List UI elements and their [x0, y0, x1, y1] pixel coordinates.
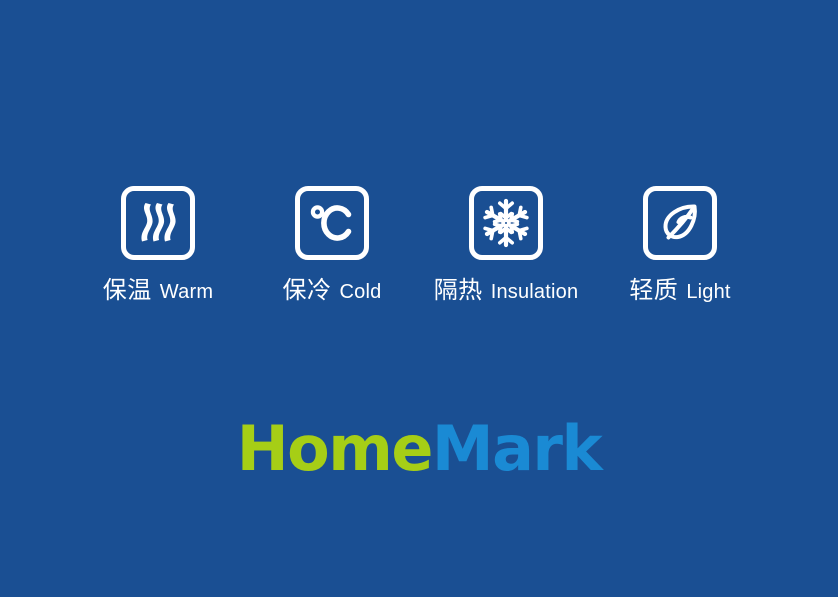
- feature-label-cn: 轻质: [629, 279, 678, 303]
- feature-item-warm: 保温 Warm: [71, 186, 245, 303]
- heat-waves-icon: [136, 199, 180, 247]
- snowflake-icon: [481, 198, 531, 248]
- insulation-icon-frame: [469, 186, 543, 260]
- feature-label-en: Light: [686, 282, 730, 302]
- feature-label-insulation: 隔热 Insulation: [434, 279, 579, 303]
- feature-label-cn: 保冷: [283, 279, 332, 303]
- brand-logo-mark: Mark: [432, 412, 601, 485]
- feature-label-cn: 保温: [103, 279, 152, 303]
- feature-label-cn: 隔热: [434, 279, 483, 303]
- feature-label-light: 轻质 Light: [629, 279, 730, 303]
- brand-logo-home: Home: [237, 412, 432, 485]
- feature-item-insulation: 隔热 Insulation: [419, 186, 593, 303]
- feature-list: 保温 Warm 保冷 Cold: [0, 186, 838, 303]
- celsius-degree-icon: [308, 201, 356, 245]
- feather-leaf-icon: [656, 199, 704, 247]
- cold-icon-frame: [295, 186, 369, 260]
- feature-item-light: 轻质 Light: [593, 186, 767, 303]
- feature-label-cold: 保冷 Cold: [283, 279, 382, 303]
- warm-icon-frame: [121, 186, 195, 260]
- light-icon-frame: [643, 186, 717, 260]
- feature-label-warm: 保温 Warm: [103, 279, 213, 303]
- feature-label-en: Warm: [160, 282, 213, 302]
- brand-logo: HomeMark: [0, 418, 838, 480]
- feature-label-en: Cold: [340, 282, 382, 302]
- feature-label-en: Insulation: [491, 282, 579, 302]
- feature-item-cold: 保冷 Cold: [245, 186, 419, 303]
- feature-banner: 保温 Warm 保冷 Cold: [0, 0, 838, 597]
